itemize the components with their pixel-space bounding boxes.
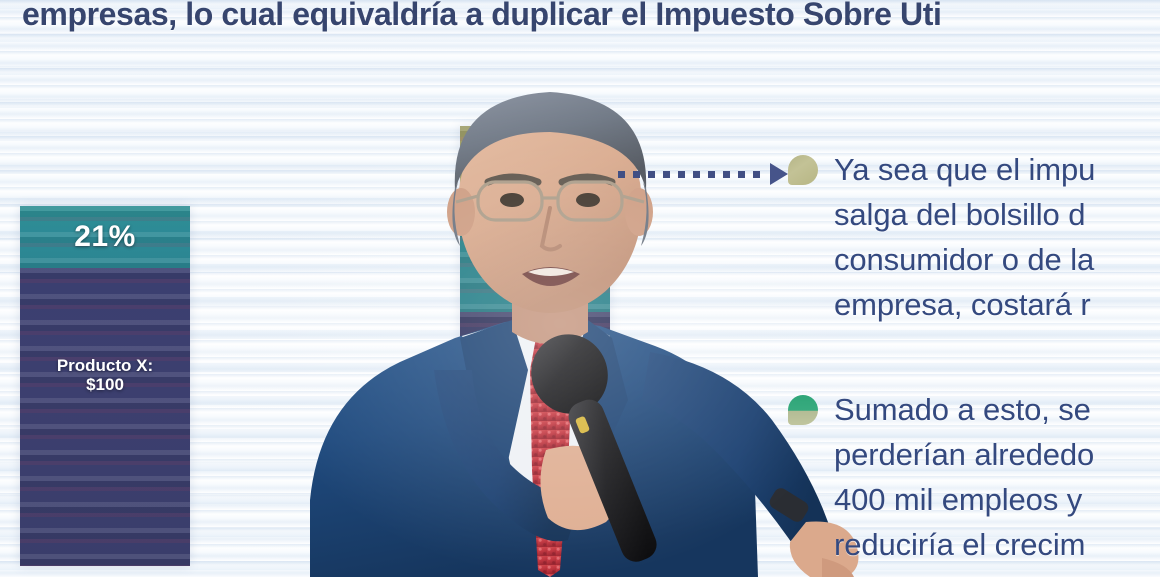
bullet-2-line-4: reduciría el crecim bbox=[834, 523, 1094, 568]
bullet-2-text: Sumado a esto, se perderían alrededo 400… bbox=[834, 388, 1094, 577]
arrowhead-icon bbox=[770, 163, 788, 185]
bar1-segment-tax: 21% bbox=[20, 206, 190, 268]
bullet-block-2: Sumado a esto, se perderían alrededo 400… bbox=[788, 388, 1160, 577]
olive-teardrop-bullet-icon bbox=[788, 155, 818, 185]
bar-producto-x-1: 21% Producto X:$100 bbox=[20, 206, 190, 566]
bullet-1-line-2: salga del bolsillo d bbox=[834, 193, 1095, 238]
ear-right bbox=[625, 188, 653, 236]
hair-side-right bbox=[641, 182, 649, 246]
bar2-tax-extra-percent-label: 5% bbox=[510, 157, 560, 195]
slide-headline: se necesitaría recaudar aproximadamente … bbox=[0, 0, 1160, 34]
projected-slide: se necesitaría recaudar aproximadamente … bbox=[0, 0, 1160, 577]
bar2-segment-base: X: bbox=[460, 312, 610, 566]
bullet-1-text: Ya sea que el impu salga del bolsillo d … bbox=[834, 148, 1095, 328]
dotted-arrow-connector bbox=[618, 165, 788, 183]
bullet-2-line-1: Sumado a esto, se bbox=[834, 388, 1094, 433]
headline-line-main: empresas, lo cual equivaldría a duplicar… bbox=[0, 0, 1160, 34]
bullet-block-1: Ya sea que el impu salga del bolsillo d … bbox=[788, 148, 1160, 328]
bullet-1-line-1: Ya sea que el impu bbox=[834, 148, 1095, 193]
bar1-product-label: Producto X:$100 bbox=[20, 356, 190, 394]
scanline-overlay bbox=[20, 268, 190, 566]
hair-side-left bbox=[452, 182, 460, 246]
bullet-1-line-4: empresa, costará r bbox=[834, 283, 1095, 328]
bullet-1-line-3: consumidor o de la bbox=[834, 238, 1095, 283]
bar2-tax-percent-label: % bbox=[522, 252, 549, 286]
bar2-segment-tax-extra: 5% bbox=[460, 126, 610, 226]
bullet-2-line-2: perderían alrededo bbox=[834, 433, 1094, 478]
scanline-overlay bbox=[460, 312, 610, 566]
dotted-line bbox=[618, 171, 768, 178]
bar2-product-label: X: bbox=[460, 376, 610, 395]
bullet-2-line-5: de Estados Unidos bbox=[834, 568, 1094, 577]
green-teardrop-bullet-icon bbox=[788, 395, 818, 425]
bar1-segment-base: Producto X:$100 bbox=[20, 268, 190, 566]
bar2-segment-tax: % bbox=[460, 226, 610, 312]
bullet-2-line-3: 400 mil empleos y bbox=[834, 478, 1094, 523]
bar1-tax-percent-label: 21% bbox=[74, 220, 136, 254]
bar-producto-x-2: 5% % X: bbox=[460, 126, 610, 566]
